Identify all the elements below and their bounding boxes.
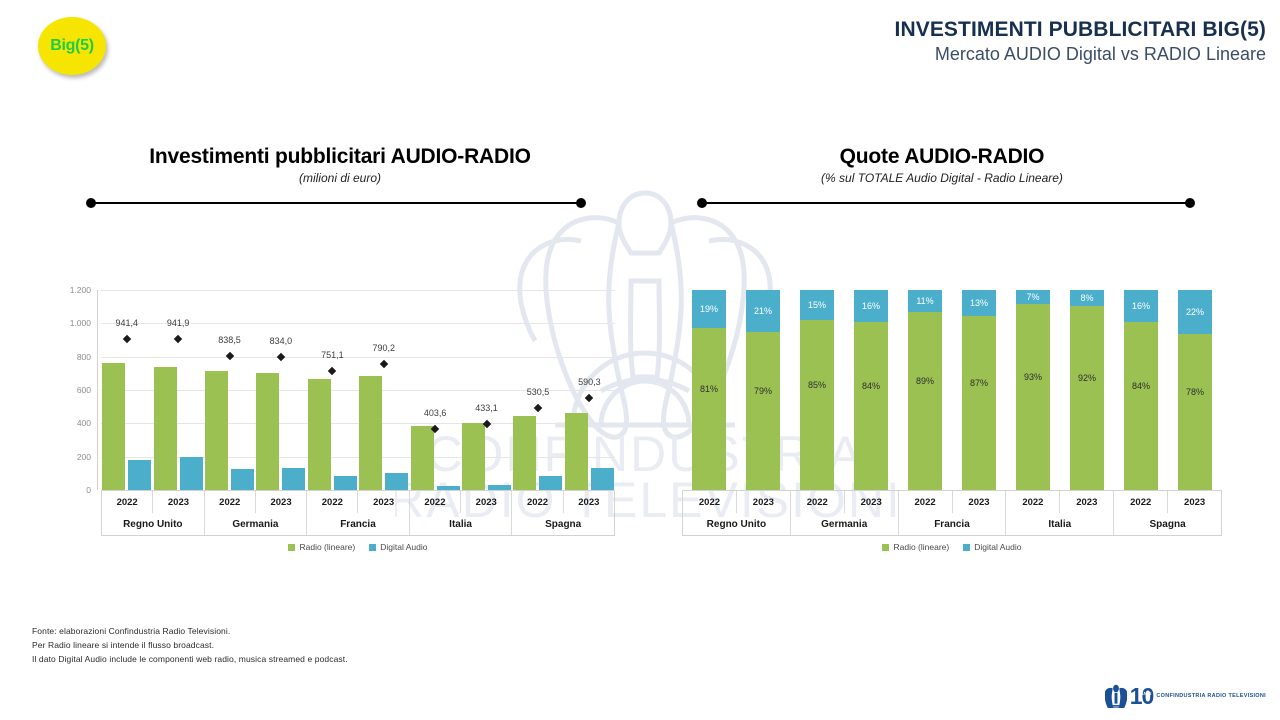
total-value-label: 838,5 xyxy=(218,335,241,345)
category-label-year: 2022 xyxy=(1006,491,1060,513)
bar-group: 941,9 xyxy=(152,290,203,490)
rule-line-right xyxy=(702,202,1190,204)
eagle-icon xyxy=(1105,684,1127,708)
category-label-year: 2023 xyxy=(461,491,512,513)
segment-label-digital-audio: 21% xyxy=(754,306,772,316)
divider-rule-left xyxy=(86,198,586,208)
bar-radio-lineare xyxy=(411,426,434,490)
group-axis-quote: Regno UnitoGermaniaFranciaItaliaSpagna xyxy=(682,513,1222,536)
legend-investimenti: Radio (lineare) Digital Audio xyxy=(101,542,615,552)
bar-group: 13%87% xyxy=(952,290,1006,490)
legend-item-radio-lineare: Radio (lineare) xyxy=(288,542,355,552)
category-label-year: 2022 xyxy=(102,491,153,513)
bar-radio-lineare xyxy=(513,416,536,490)
segment-label-digital-audio: 19% xyxy=(700,304,718,314)
bar-group: 530,5 xyxy=(512,290,563,490)
bar-radio-lineare xyxy=(462,423,485,490)
segment-digital-audio: 15% xyxy=(800,290,834,320)
bar-group: 790,2 xyxy=(358,290,409,490)
section-subtitle-investimenti: (milioni di euro) xyxy=(60,171,620,185)
segment-label-radio-lineare: 78% xyxy=(1186,387,1204,397)
total-value-label: 530,5 xyxy=(527,387,550,397)
segment-radio-lineare: 92% xyxy=(1070,306,1104,490)
bar-digital-audio xyxy=(128,460,151,490)
segment-label-radio-lineare: 84% xyxy=(862,381,880,391)
segment-label-digital-audio: 13% xyxy=(970,298,988,308)
segment-digital-audio: 11% xyxy=(908,290,942,312)
bar-digital-audio xyxy=(282,468,305,490)
category-label-year: 2023 xyxy=(953,491,1007,513)
segment-digital-audio: 19% xyxy=(692,290,726,328)
segment-label-radio-lineare: 87% xyxy=(970,378,988,388)
bar-digital-audio xyxy=(385,473,408,490)
bar-group: 16%84% xyxy=(1114,290,1168,490)
bar-radio-lineare xyxy=(359,376,382,491)
group-label-country: Italia xyxy=(1006,513,1114,535)
segment-label-radio-lineare: 92% xyxy=(1078,373,1096,383)
group-label-country: Francia xyxy=(899,513,1007,535)
rule-dot-end-right xyxy=(1185,198,1195,208)
big5-badge-label: Big(5) xyxy=(50,37,94,55)
bar-radio-lineare xyxy=(565,413,588,490)
chart-quote-plot: 19%81%21%79%15%85%16%84%11%89%13%87%7%93… xyxy=(682,290,1222,572)
segment-label-radio-lineare: 89% xyxy=(916,376,934,386)
chart-quote: 19%81%21%79%15%85%16%84%11%89%13%87%7%93… xyxy=(670,278,1222,560)
segment-label-radio-lineare: 85% xyxy=(808,380,826,390)
legend-swatch-blue-icon xyxy=(369,544,376,551)
category-label-year: 2023 xyxy=(845,491,899,513)
bar-digital-audio xyxy=(591,468,614,490)
bar-group: 22%78% xyxy=(1168,290,1222,490)
segment-label-radio-lineare: 93% xyxy=(1024,372,1042,382)
divider-rule-right xyxy=(697,198,1195,208)
bars-quote: 19%81%21%79%15%85%16%84%11%89%13%87%7%93… xyxy=(682,290,1222,490)
bar-radio-lineare xyxy=(256,373,279,490)
segment-radio-lineare: 87% xyxy=(962,316,996,490)
logo-ten-wrap: 10 ANNI xyxy=(1130,685,1154,708)
segment-radio-lineare: 84% xyxy=(854,322,888,490)
category-label-year: 2022 xyxy=(307,491,358,513)
footnote-line-1: Fonte: elaborazioni Confindustria Radio … xyxy=(32,625,348,639)
big5-badge: Big(5) xyxy=(38,17,106,75)
section-title-quote: Quote AUDIO-RADIO xyxy=(672,145,1212,169)
y-axis-tick: 600 xyxy=(77,385,91,395)
bar-radio-lineare xyxy=(308,379,331,490)
total-value-label: 403,6 xyxy=(424,408,447,418)
y-axis-tick: 400 xyxy=(77,418,91,428)
segment-radio-lineare: 89% xyxy=(908,312,942,490)
rule-dot-end-left xyxy=(576,198,586,208)
bars-investimenti: 941,4941,9838,5834,0751,1790,2403,6433,1… xyxy=(101,290,615,490)
segment-radio-lineare: 84% xyxy=(1124,322,1158,490)
chart-investimenti-plot: 02004006008001.0001.200 941,4941,9838,58… xyxy=(101,290,615,572)
category-label-year: 2022 xyxy=(410,491,461,513)
bar-group: 834,0 xyxy=(255,290,306,490)
bar-radio-lineare xyxy=(154,367,177,491)
segment-radio-lineare: 93% xyxy=(1016,304,1050,490)
legend-swatch-blue-icon xyxy=(963,544,970,551)
total-value-label: 941,4 xyxy=(115,318,138,328)
group-label-country: Francia xyxy=(307,513,410,535)
segment-digital-audio: 13% xyxy=(962,290,996,316)
bar-group: 19%81% xyxy=(682,290,736,490)
header: INVESTIMENTI PUBBLICITARI BIG(5) Mercato… xyxy=(895,18,1266,67)
segment-label-radio-lineare: 79% xyxy=(754,386,772,396)
legend-label-digital-audio: Digital Audio xyxy=(380,542,427,552)
legend-item-radio-lineare: Radio (lineare) xyxy=(882,542,949,552)
y-axis-tick: 800 xyxy=(77,352,91,362)
segment-label-digital-audio: 8% xyxy=(1080,293,1093,303)
footnote: Fonte: elaborazioni Confindustria Radio … xyxy=(32,625,348,666)
category-label-year: 2022 xyxy=(1114,491,1168,513)
category-label-year: 2023 xyxy=(153,491,204,513)
segment-label-radio-lineare: 84% xyxy=(1132,381,1150,391)
segment-radio-lineare: 78% xyxy=(1178,334,1212,490)
legend-label-radio-lineare: Radio (lineare) xyxy=(893,542,949,552)
category-label-year: 2022 xyxy=(899,491,953,513)
legend-label-digital-audio: Digital Audio xyxy=(974,542,1021,552)
page-subtitle: Mercato AUDIO Digital vs RADIO Lineare xyxy=(895,43,1266,66)
section-header-investimenti: Investimenti pubblicitari AUDIO-RADIO (m… xyxy=(60,145,620,185)
legend-swatch-green-icon xyxy=(882,544,889,551)
segment-label-digital-audio: 16% xyxy=(862,301,880,311)
y-axis-tick: 0 xyxy=(86,485,91,495)
group-label-country: Germania xyxy=(205,513,308,535)
y-axis-tick: 200 xyxy=(77,452,91,462)
category-label-year: 2022 xyxy=(512,491,563,513)
segment-label-digital-audio: 11% xyxy=(916,296,933,306)
group-label-country: Germania xyxy=(791,513,899,535)
footnote-line-3: Il dato Digital Audio include le compone… xyxy=(32,653,348,667)
legend-item-digital-audio: Digital Audio xyxy=(963,542,1021,552)
logo-company-name: CONFINDUSTRIA RADIO TELEVISIONI xyxy=(1156,693,1266,699)
bar-group: 751,1 xyxy=(307,290,358,490)
legend-quote: Radio (lineare) Digital Audio xyxy=(682,542,1222,552)
bar-group: 403,6 xyxy=(409,290,460,490)
total-value-label: 433,1 xyxy=(475,403,498,413)
segment-label-digital-audio: 22% xyxy=(1186,307,1204,317)
category-label-year: 2022 xyxy=(683,491,737,513)
category-label-year: 2022 xyxy=(791,491,845,513)
segment-digital-audio: 21% xyxy=(746,290,780,332)
total-value-label: 834,0 xyxy=(270,336,293,346)
total-value-label: 941,9 xyxy=(167,318,190,328)
group-label-country: Italia xyxy=(410,513,513,535)
bar-group: 11%89% xyxy=(898,290,952,490)
y-axis-line xyxy=(97,290,98,490)
segment-label-digital-audio: 15% xyxy=(808,300,826,310)
segment-label-radio-lineare: 81% xyxy=(700,384,718,394)
legend-label-radio-lineare: Radio (lineare) xyxy=(299,542,355,552)
category-label-year: 2023 xyxy=(1060,491,1114,513)
segment-radio-lineare: 81% xyxy=(692,328,726,490)
bar-radio-lineare xyxy=(102,363,125,490)
category-label-year: 2023 xyxy=(358,491,409,513)
bar-radio-lineare xyxy=(205,371,228,490)
total-value-label: 790,2 xyxy=(372,343,395,353)
category-label-year: 2023 xyxy=(1168,491,1221,513)
footnote-line-2: Per Radio lineare si intende il flusso b… xyxy=(32,639,348,653)
segment-digital-audio: 22% xyxy=(1178,290,1212,334)
category-label-year: 2022 xyxy=(205,491,256,513)
section-header-quote: Quote AUDIO-RADIO (% sul TOTALE Audio Di… xyxy=(672,145,1212,185)
bar-digital-audio xyxy=(180,457,203,491)
bar-group: 7%93% xyxy=(1006,290,1060,490)
bar-group: 433,1 xyxy=(461,290,512,490)
segment-radio-lineare: 79% xyxy=(746,332,780,490)
segment-label-digital-audio: 7% xyxy=(1026,292,1039,302)
section-subtitle-quote: (% sul TOTALE Audio Digital - Radio Line… xyxy=(672,171,1212,185)
section-title-investimenti: Investimenti pubblicitari AUDIO-RADIO xyxy=(60,145,620,169)
bar-group: 590,3 xyxy=(564,290,615,490)
group-axis-investimenti: Regno UnitoGermaniaFranciaItaliaSpagna xyxy=(101,513,615,536)
y-axis-investimenti: 02004006008001.0001.200 xyxy=(55,290,97,490)
segment-digital-audio: 8% xyxy=(1070,290,1104,306)
y-axis-tick: 1.000 xyxy=(70,318,91,328)
category-label-year: 2023 xyxy=(256,491,307,513)
bar-digital-audio xyxy=(334,476,357,490)
group-label-country: Spagna xyxy=(512,513,614,535)
rule-line-left xyxy=(91,202,581,204)
confindustria-logo: 10 ANNI CONFINDUSTRIA RADIO TELEVISIONI xyxy=(1105,684,1266,708)
bar-group: 838,5 xyxy=(204,290,255,490)
segment-radio-lineare: 85% xyxy=(800,320,834,490)
total-value-label: 751,1 xyxy=(321,350,344,360)
page-title: INVESTIMENTI PUBBLICITARI BIG(5) xyxy=(895,18,1266,42)
legend-swatch-green-icon xyxy=(288,544,295,551)
segment-label-digital-audio: 16% xyxy=(1132,301,1150,311)
bar-digital-audio xyxy=(231,469,254,490)
bar-digital-audio xyxy=(539,476,562,490)
segment-digital-audio: 16% xyxy=(854,290,888,322)
group-label-country: Spagna xyxy=(1114,513,1221,535)
group-label-country: Regno Unito xyxy=(102,513,205,535)
total-value-label: 590,3 xyxy=(578,377,601,387)
segment-digital-audio: 7% xyxy=(1016,290,1050,304)
bar-group: 941,4 xyxy=(101,290,152,490)
category-label-year: 2023 xyxy=(564,491,614,513)
category-label-year: 2023 xyxy=(737,491,791,513)
group-label-country: Regno Unito xyxy=(683,513,791,535)
category-axis-investimenti: 2022202320222023202220232022202320222023 xyxy=(101,490,615,513)
bar-group: 8%92% xyxy=(1060,290,1114,490)
chart-investimenti: 02004006008001.0001.200 941,4941,9838,58… xyxy=(55,278,615,560)
bar-group: 21%79% xyxy=(736,290,790,490)
bar-group: 15%85% xyxy=(790,290,844,490)
y-axis-tick: 1.200 xyxy=(70,285,91,295)
logo-anni-label: ANNI xyxy=(1140,692,1151,697)
segment-digital-audio: 16% xyxy=(1124,290,1158,322)
bar-group: 16%84% xyxy=(844,290,898,490)
category-axis-quote: 2022202320222023202220232022202320222023 xyxy=(682,490,1222,513)
legend-item-digital-audio: Digital Audio xyxy=(369,542,427,552)
